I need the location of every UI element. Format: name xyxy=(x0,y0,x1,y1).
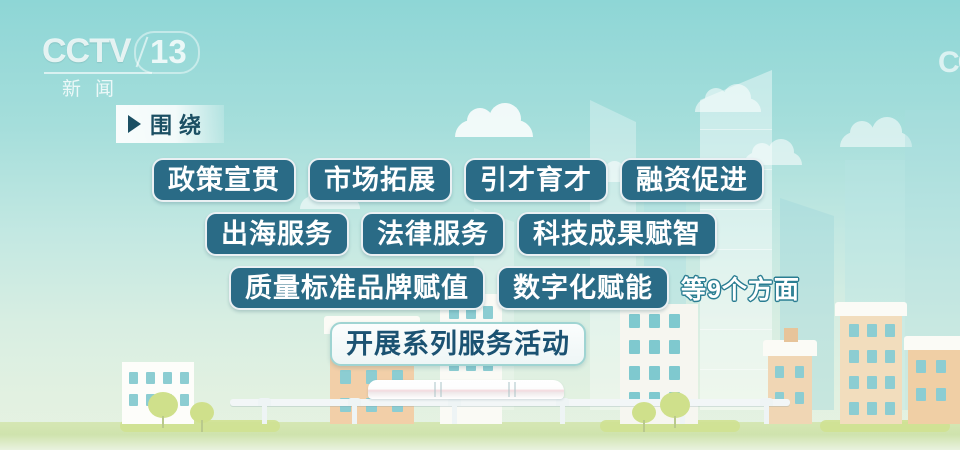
building xyxy=(768,354,812,424)
section-heading: 围绕 xyxy=(116,105,224,143)
viaduct-pier xyxy=(764,404,769,424)
channel-name-label: 新闻 xyxy=(62,74,128,101)
viaduct-pier xyxy=(560,404,565,424)
tag-pill: 法律服务 xyxy=(361,212,505,256)
tag-pill: 数字化赋能 xyxy=(497,266,669,310)
tag-row-3: 质量标准品牌赋值 数字化赋能 等9个方面 xyxy=(229,266,800,310)
tag-pill: 科技成果赋智 xyxy=(517,212,717,256)
viaduct-pier xyxy=(352,404,357,424)
tag-pill: 政策宣贯 xyxy=(152,158,296,202)
tag-pill: 融资促进 xyxy=(620,158,764,202)
conclusion-pill: 开展系列服务活动 xyxy=(330,322,586,366)
heading-text: 围绕 xyxy=(150,108,208,140)
tag-row-2: 出海服务 法律服务 科技成果赋智 xyxy=(205,212,717,256)
tree-icon xyxy=(660,392,690,426)
cctv13-logo: CCTV 13 新闻 xyxy=(38,34,198,96)
tag-pill: 引才育才 xyxy=(464,158,608,202)
tree-icon xyxy=(190,398,214,426)
tag-pill: 市场拓展 xyxy=(308,158,452,202)
tree-icon xyxy=(632,398,656,426)
train-icon xyxy=(368,380,564,399)
tag-row-4: 开展系列服务活动 xyxy=(330,322,586,366)
viaduct xyxy=(230,399,790,406)
building xyxy=(840,314,902,424)
play-triangle-icon xyxy=(128,115,141,133)
channel-number: 13 xyxy=(150,33,187,71)
cctv-wordmark: CCTV xyxy=(42,34,131,68)
building xyxy=(908,348,960,424)
cloud-icon xyxy=(455,120,533,137)
broadcast-graphic: CCTV 13 新闻 CCTV 央视网 com 围绕 政策宣贯 市场拓展 引才育… xyxy=(0,0,960,450)
cloud-icon xyxy=(840,132,912,147)
tag-suffix-text: 等9个方面 xyxy=(681,270,800,306)
tag-pill: 出海服务 xyxy=(205,212,349,256)
watermark-cctv-text: CCTV xyxy=(938,46,960,80)
viaduct-pier xyxy=(262,404,267,424)
viaduct-pier xyxy=(452,404,457,424)
tag-row-1: 政策宣贯 市场拓展 引才育才 融资促进 xyxy=(152,158,764,202)
tree-icon xyxy=(148,392,178,426)
tag-pill: 质量标准品牌赋值 xyxy=(229,266,485,310)
